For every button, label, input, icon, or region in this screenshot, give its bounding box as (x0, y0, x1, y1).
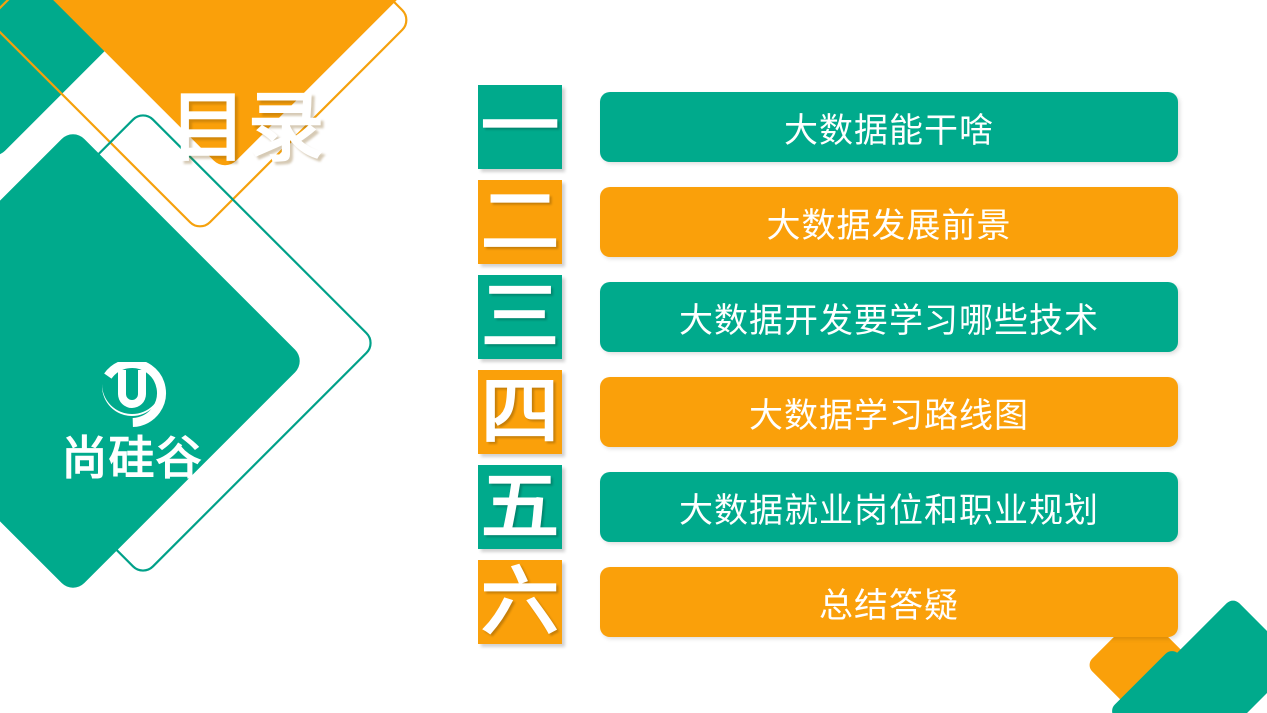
agenda-number-box-3: 三 (478, 275, 562, 359)
atguigu-u-logo-icon (93, 362, 171, 433)
agenda-item-3[interactable]: 三 大数据开发要学习哪些技术 (478, 275, 1178, 359)
agenda-number-3: 三 (481, 280, 559, 354)
agenda-number-box-5: 五 (478, 465, 562, 549)
agenda-label-2: 大数据发展前景 (767, 198, 1012, 247)
agenda-bar-2[interactable]: 大数据发展前景 (600, 187, 1178, 257)
agenda-number-2: 二 (481, 185, 559, 259)
agenda-number-box-6: 六 (478, 560, 562, 644)
agenda-item-5[interactable]: 五 大数据就业岗位和职业规划 (478, 465, 1178, 549)
teal-diamond-filled-bottomright-a (1168, 597, 1267, 713)
agenda-number-1: 一 (481, 90, 559, 164)
agenda-bar-1[interactable]: 大数据能干啥 (600, 92, 1178, 162)
agenda-label-5: 大数据就业岗位和职业规划 (679, 483, 1099, 532)
agenda-item-4[interactable]: 四 大数据学习路线图 (478, 370, 1178, 454)
agenda-label-6: 总结答疑 (819, 578, 959, 627)
agenda-item-6[interactable]: 六 总结答疑 (478, 560, 1178, 644)
teal-diamond-filled-bottomright-b (1108, 647, 1235, 713)
brand-wordmark: 尚硅谷 (62, 435, 203, 481)
agenda-list: 一 大数据能干啥 二 大数据发展前景 三 大数据开发要学习哪些技术 四 (478, 85, 1178, 655)
agenda-bar-6[interactable]: 总结答疑 (600, 567, 1178, 637)
agenda-number-6: 六 (481, 565, 559, 639)
agenda-bar-3[interactable]: 大数据开发要学习哪些技术 (600, 282, 1178, 352)
agenda-item-1[interactable]: 一 大数据能干啥 (478, 85, 1178, 169)
page-title: 目录 (148, 66, 348, 176)
agenda-label-3: 大数据开发要学习哪些技术 (679, 293, 1099, 342)
agenda-number-box-4: 四 (478, 370, 562, 454)
teal-diamond-filled-topleft (0, 0, 155, 161)
agenda-number-box-2: 二 (478, 180, 562, 264)
agenda-number-box-1: 一 (478, 85, 562, 169)
agenda-label-1: 大数据能干啥 (784, 103, 994, 152)
teal-diamond-filled-logo (0, 128, 306, 595)
brand-logo: 尚硅谷 (22, 362, 242, 512)
agenda-label-4: 大数据学习路线图 (749, 388, 1029, 437)
agenda-item-2[interactable]: 二 大数据发展前景 (478, 180, 1178, 264)
agenda-number-4: 四 (481, 375, 559, 449)
slide-canvas: 目录 尚硅谷 一 大数据能干啥 二 (0, 0, 1267, 713)
agenda-bar-5[interactable]: 大数据就业岗位和职业规划 (600, 472, 1178, 542)
agenda-number-5: 五 (481, 470, 559, 544)
agenda-bar-4[interactable]: 大数据学习路线图 (600, 377, 1178, 447)
